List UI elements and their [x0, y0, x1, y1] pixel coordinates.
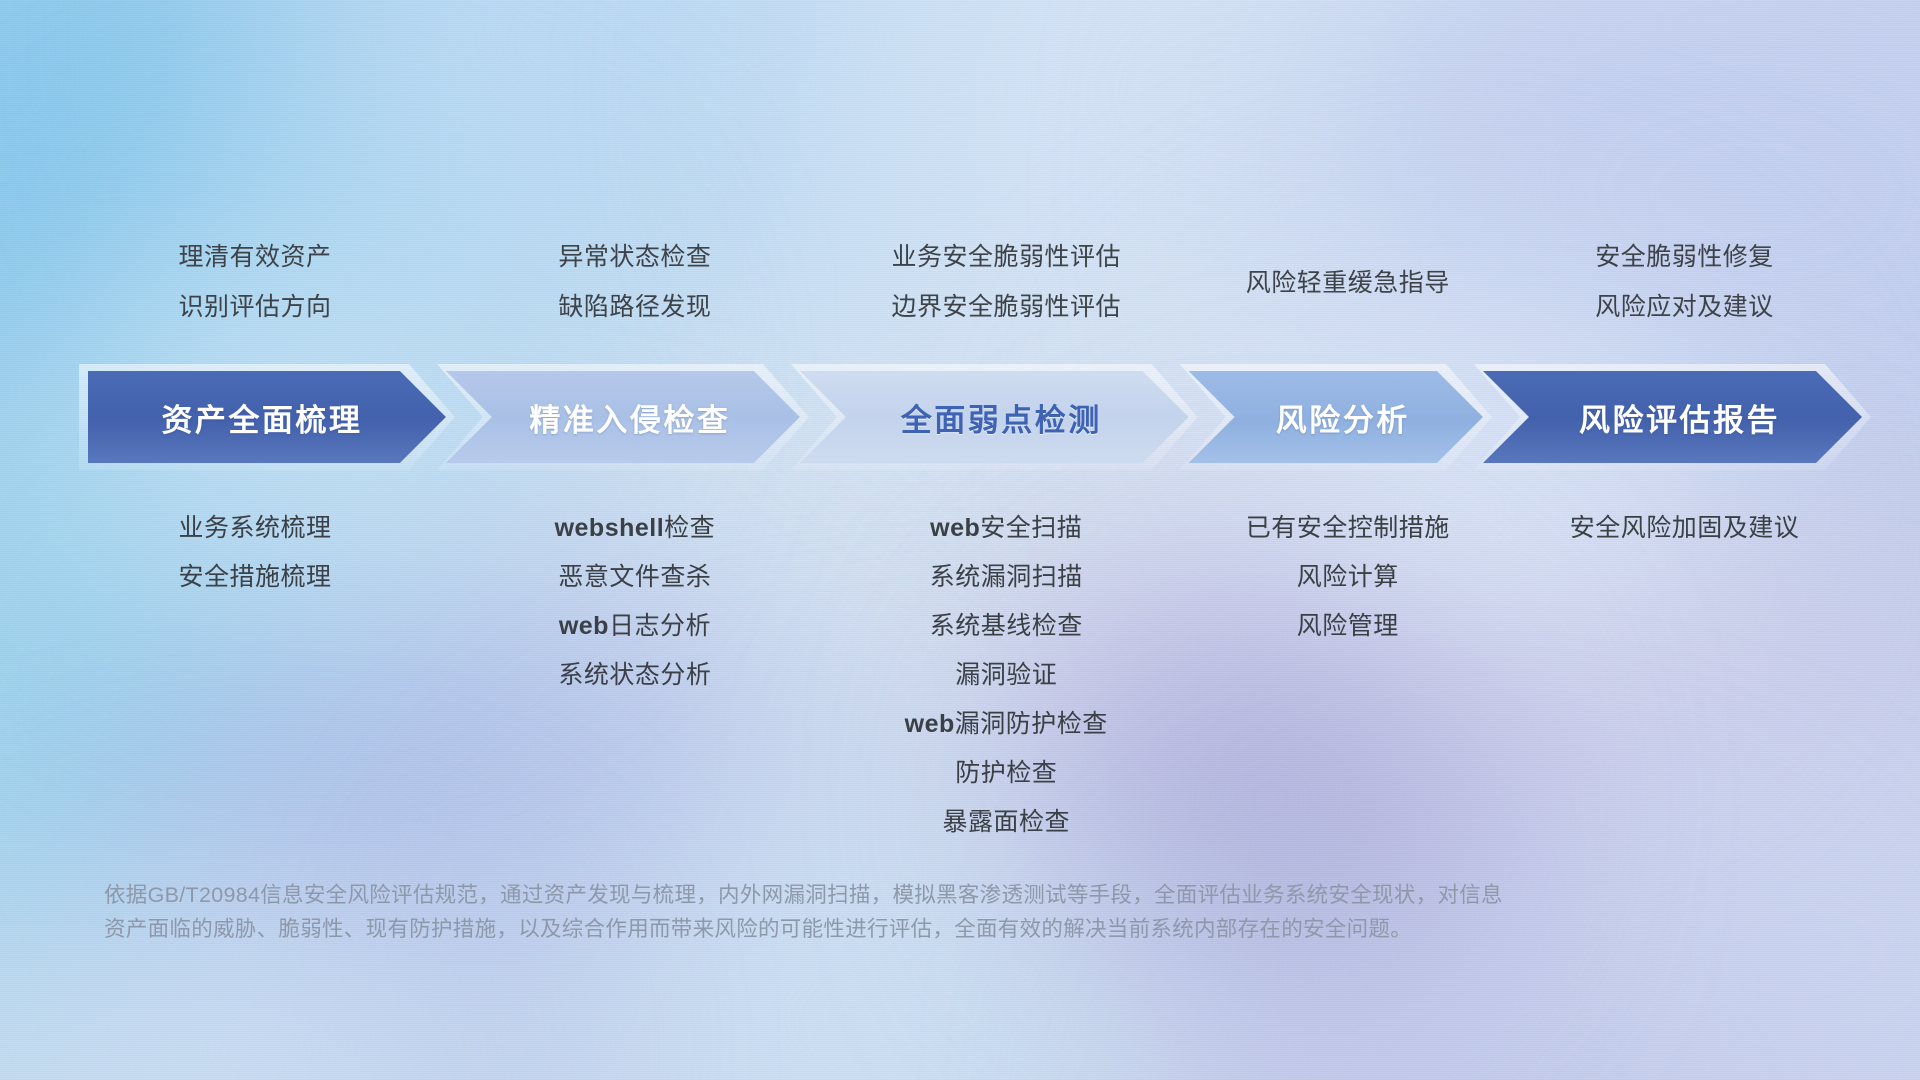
stage-bottom-item: 风险计算 — [1028, 553, 1668, 602]
process-diagram: 理清有效资产识别评估方向异常状态检查缺陷路径发现业务安全脆弱性评估边界安全脆弱性… — [0, 0, 1920, 1080]
item-label-rest: 漏洞防护检查 — [955, 710, 1108, 738]
item-latin-prefix: webshell — [555, 514, 665, 542]
stage-top-item: 风险应对及建议 — [1364, 282, 1920, 332]
process-stage-asset-inventory[interactable]: 资产全面梳理 — [88, 371, 446, 463]
stage-bottom-item: 漏洞验证 — [686, 651, 1326, 700]
item-latin-prefix: web — [905, 710, 955, 738]
process-stage-risk-report[interactable]: 风险评估报告 — [1483, 371, 1862, 463]
stage-bottom-labels-risk-report: 安全风险加固及建议 — [1364, 504, 1920, 553]
process-stage-risk-analysis[interactable]: 风险分析 — [1189, 371, 1483, 463]
stage-top-labels-risk-report: 安全脆弱性修复风险应对及建议 — [1364, 232, 1920, 332]
stage-title-asset-inventory: 资产全面梳理 — [161, 395, 362, 440]
stage-bottom-item: web漏洞防护检查 — [686, 700, 1326, 749]
stage-bottom-item: 防护检查 — [686, 749, 1326, 798]
stage-title-risk-report: 风险评估报告 — [1579, 395, 1780, 440]
item-latin-prefix: web — [930, 514, 980, 542]
description-line-2: 资产面临的威胁、脆弱性、现有防护措施，以及综合作用而带来风险的可能性进行评估，全… — [104, 912, 1664, 946]
process-stage-weakness-detection[interactable]: 全面弱点检测 — [800, 371, 1189, 463]
stage-bottom-item: 安全风险加固及建议 — [1364, 504, 1920, 553]
description-paragraph: 依据GB/T20984信息安全风险评估规范，通过资产发现与梳理，内外网漏洞扫描，… — [104, 878, 1664, 946]
description-line-1: 依据GB/T20984信息安全风险评估规范，通过资产发现与梳理，内外网漏洞扫描，… — [104, 878, 1664, 912]
process-stage-intrusion-check[interactable]: 精准入侵检查 — [446, 371, 800, 463]
stage-bottom-item: 暴露面检查 — [686, 798, 1326, 847]
stage-title-risk-analysis: 风险分析 — [1276, 395, 1410, 440]
stage-top-item: 安全脆弱性修复 — [1364, 232, 1920, 282]
process-chevron-band: 资产全面梳理精准入侵检查全面弱点检测风险分析风险评估报告 — [88, 371, 1862, 463]
stage-title-intrusion-check: 精准入侵检查 — [529, 395, 730, 440]
stage-bottom-item: 风险管理 — [1028, 602, 1668, 651]
item-latin-prefix: web — [559, 612, 609, 640]
stage-title-weakness-detection: 全面弱点检测 — [901, 395, 1102, 440]
